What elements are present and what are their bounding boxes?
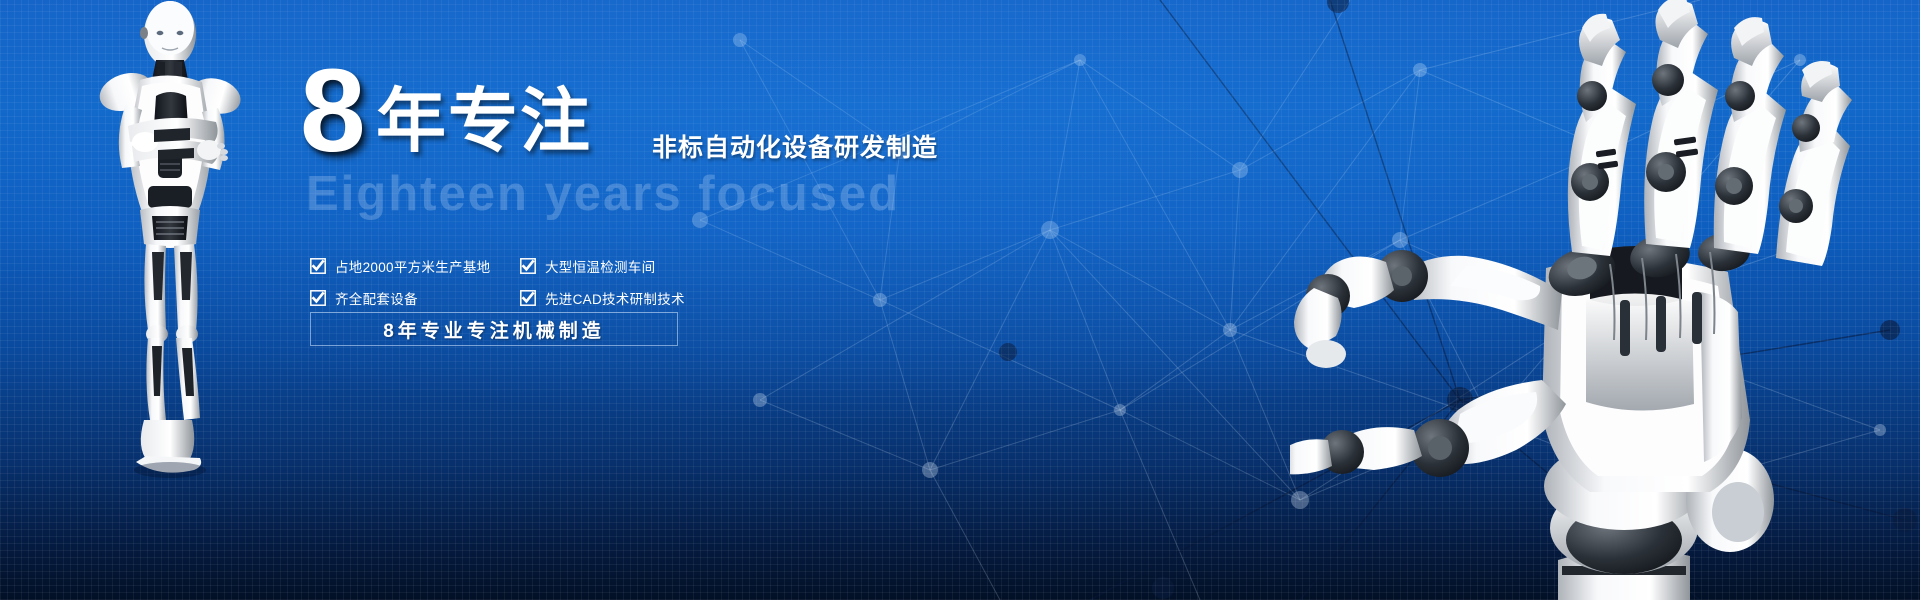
banner-text-block: 8 年专注 非标自动化设备研发制造 Eighteen years focused… [300,60,1060,380]
feature-item: 占地2000平方米生产基地 [310,250,520,282]
check-square-icon [520,258,536,274]
feature-label: 占地2000平方米生产基地 [335,256,490,276]
hero-banner: 8 年专注 非标自动化设备研发制造 Eighteen years focused… [0,0,1920,600]
check-square-icon [310,258,326,274]
feature-item: 大型恒温检测车间 [520,250,730,282]
headline-main: 年专注 [376,86,592,156]
headline-english-ghost: Eighteen years focused [306,170,900,219]
feature-label: 大型恒温检测车间 [545,256,655,276]
feature-list: 占地2000平方米生产基地 大型恒温检测车间 [310,250,930,314]
feature-item: 齐全配套设备 [310,282,520,314]
years-number: 8 [300,52,364,170]
slogan-box: 8年专业专注机械制造 [310,312,678,346]
check-square-icon [520,290,536,306]
feature-item: 先进CAD技术研制技术 [520,282,730,314]
slogan-text: 8年专业专注机械制造 [383,316,605,343]
headline-subtitle: 非标自动化设备研发制造 [652,136,938,161]
humanoid-robot-image [70,0,270,490]
feature-label: 齐全配套设备 [335,288,418,308]
check-square-icon [310,290,326,306]
robotic-hand-image [1290,0,1920,600]
headline: 8 年专注 非标自动化设备研发制造 Eighteen years focused [300,60,1060,156]
feature-label: 先进CAD技术研制技术 [545,288,685,308]
